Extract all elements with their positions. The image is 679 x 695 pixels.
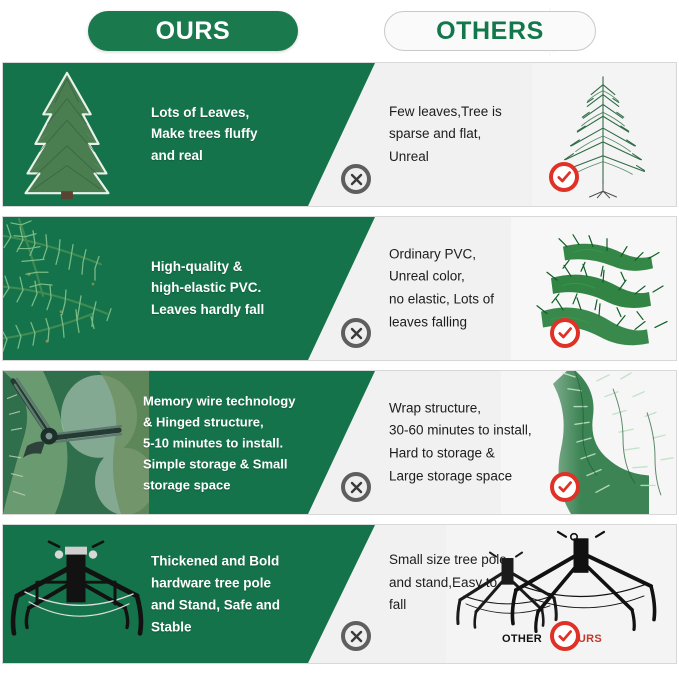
ours-text: Memory wire technology & Hinged structur…	[143, 390, 343, 495]
cross-icon	[341, 318, 371, 348]
check-icon	[549, 162, 579, 192]
ours-panel: Memory wire technology & Hinged structur…	[3, 371, 375, 514]
others-text: Small size tree pole and stand,Easy to f…	[389, 549, 569, 617]
stand-label-other: OTHER	[502, 633, 542, 645]
full-dense-christmas-tree-photo	[3, 63, 131, 206]
ours-text: High-quality & high-elastic PVC. Leaves …	[151, 256, 341, 322]
comparison-row: Memory wire technology & Hinged structur…	[2, 370, 677, 515]
comparison-rows: Lots of Leaves, Make trees fluffy and re…	[0, 62, 679, 664]
header-pill-ours: OURS	[88, 11, 298, 51]
check-icon	[550, 318, 580, 348]
others-text: Wrap structure, 30-60 minutes to install…	[389, 397, 569, 488]
comparison-row: Thickened and Bold hardware tree pole an…	[2, 524, 677, 664]
check-icon	[550, 472, 580, 502]
header-ours-label: OURS	[156, 17, 231, 46]
others-text: Few leaves,Tree is sparse and flat, Unre…	[389, 100, 569, 168]
ours-panel: High-quality & high-elastic PVC. Leaves …	[3, 217, 375, 360]
comparison-row: High-quality & high-elastic PVC. Leaves …	[2, 216, 677, 361]
ours-text: Lots of Leaves, Make trees fluffy and re…	[151, 102, 341, 168]
cross-icon	[341, 164, 371, 194]
others-text: Ordinary PVC, Unreal color, no elastic, …	[389, 243, 569, 334]
ours-panel: Lots of Leaves, Make trees fluffy and re…	[3, 63, 375, 206]
check-icon	[550, 621, 580, 651]
cross-icon	[341, 621, 371, 651]
header-others-label: OTHERS	[436, 17, 544, 46]
comparison-header: OURS OTHERS	[0, 0, 679, 62]
comparison-row: Lots of Leaves, Make trees fluffy and re…	[2, 62, 677, 207]
heavy-duty-tree-stand-photo	[3, 525, 153, 663]
header-pill-others: OTHERS	[384, 11, 596, 51]
realistic-fir-branch-closeup-photo	[3, 217, 153, 360]
ours-panel: Thickened and Bold hardware tree pole an…	[3, 525, 375, 663]
hinged-branch-mechanism-photo	[3, 371, 149, 514]
cross-icon	[341, 472, 371, 502]
ours-text: Thickened and Bold hardware tree pole an…	[151, 550, 341, 637]
